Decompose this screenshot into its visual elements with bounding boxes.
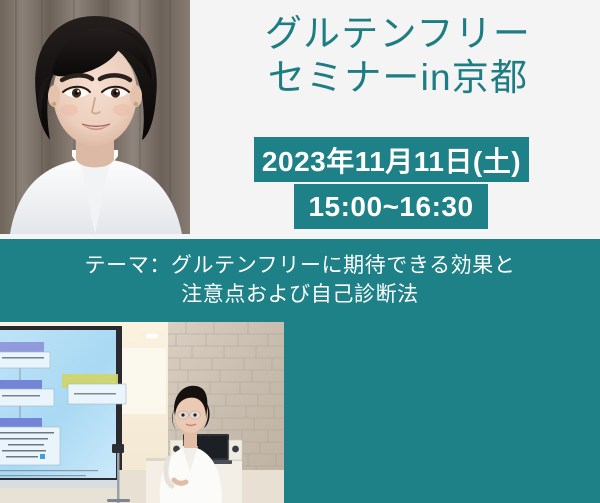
seminar-image: [0, 322, 284, 503]
seminar-flyer: グルテンフリー セミナーin京都 2023年11月11日(土) 15:00~16…: [0, 0, 600, 503]
theme-line-2: 注意点および自己診断法: [181, 281, 419, 309]
event-time-badge: 15:00~16:30: [294, 184, 488, 229]
event-date-badge: 2023年11月11日(土): [254, 137, 529, 182]
seminar-photo: [0, 322, 284, 503]
theme-line-1: テーマ：グルテンフリーに期待できる効果と: [85, 252, 516, 280]
bottom-section: 臨床栄養学博士 日本リビングフード協会代表 グルテンフリー講座監修 リビングフー…: [0, 322, 600, 503]
seminar-theme-band: テーマ：グルテンフリーに期待できる効果と 注意点および自己診断法: [0, 239, 600, 322]
flyer-title: グルテンフリー セミナーin京都: [196, 12, 600, 99]
title-line-1: グルテンフリー: [196, 12, 600, 56]
instructor-portrait-photo: [0, 0, 190, 234]
portrait-image: [0, 0, 190, 234]
title-line-2: セミナーin京都: [196, 56, 600, 100]
